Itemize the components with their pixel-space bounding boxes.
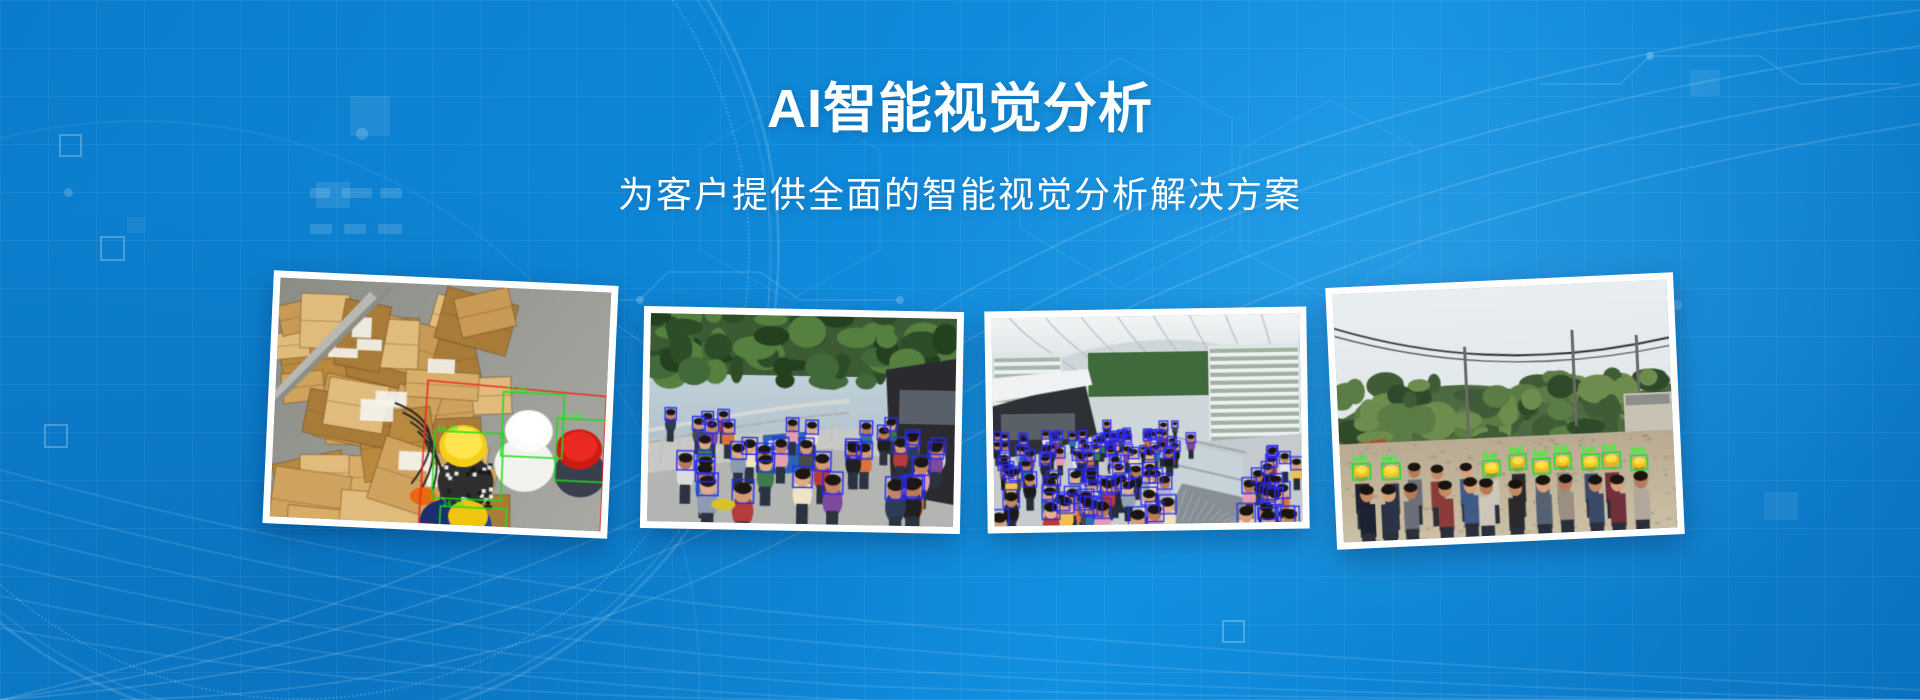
gallery-card-outdoor-worksite-hat-detection[interactable]: [1325, 272, 1685, 550]
decorative-dash-6: [378, 224, 402, 234]
ai-vision-banner: AI智能视觉分析 为客户提供全面的智能视觉分析解决方案: [0, 0, 1920, 700]
decorative-dash-4: [310, 224, 332, 234]
banner-copy: AI智能视觉分析 为客户提供全面的智能视觉分析解决方案: [0, 78, 1920, 218]
photo-worksite: [1333, 280, 1678, 543]
decorative-square-fill-1: [127, 217, 145, 233]
decorative-dash-5: [344, 224, 366, 234]
gallery-card-station-platform-crowd-detection[interactable]: [984, 306, 1309, 533]
gallery-card-warehouse-helmet-detection[interactable]: [262, 270, 618, 538]
photo-station: [991, 314, 1302, 527]
photo-warehouse: [270, 278, 612, 532]
page-title: AI智能视觉分析: [0, 78, 1920, 140]
photo-canvas-walkway: [647, 313, 957, 527]
photo-canvas-worksite: [1333, 280, 1678, 543]
photo-canvas-station: [991, 314, 1302, 527]
decorative-square-outline-4: [1222, 620, 1245, 643]
gallery-card-walkway-crowd-face-detection[interactable]: [640, 306, 964, 534]
page-subtitle: 为客户提供全面的智能视觉分析解决方案: [0, 166, 1920, 218]
photo-canvas-warehouse: [270, 278, 612, 532]
photo-walkway: [647, 313, 957, 527]
gallery-strip: [0, 300, 1920, 580]
decorative-square-outline-2: [100, 236, 125, 261]
